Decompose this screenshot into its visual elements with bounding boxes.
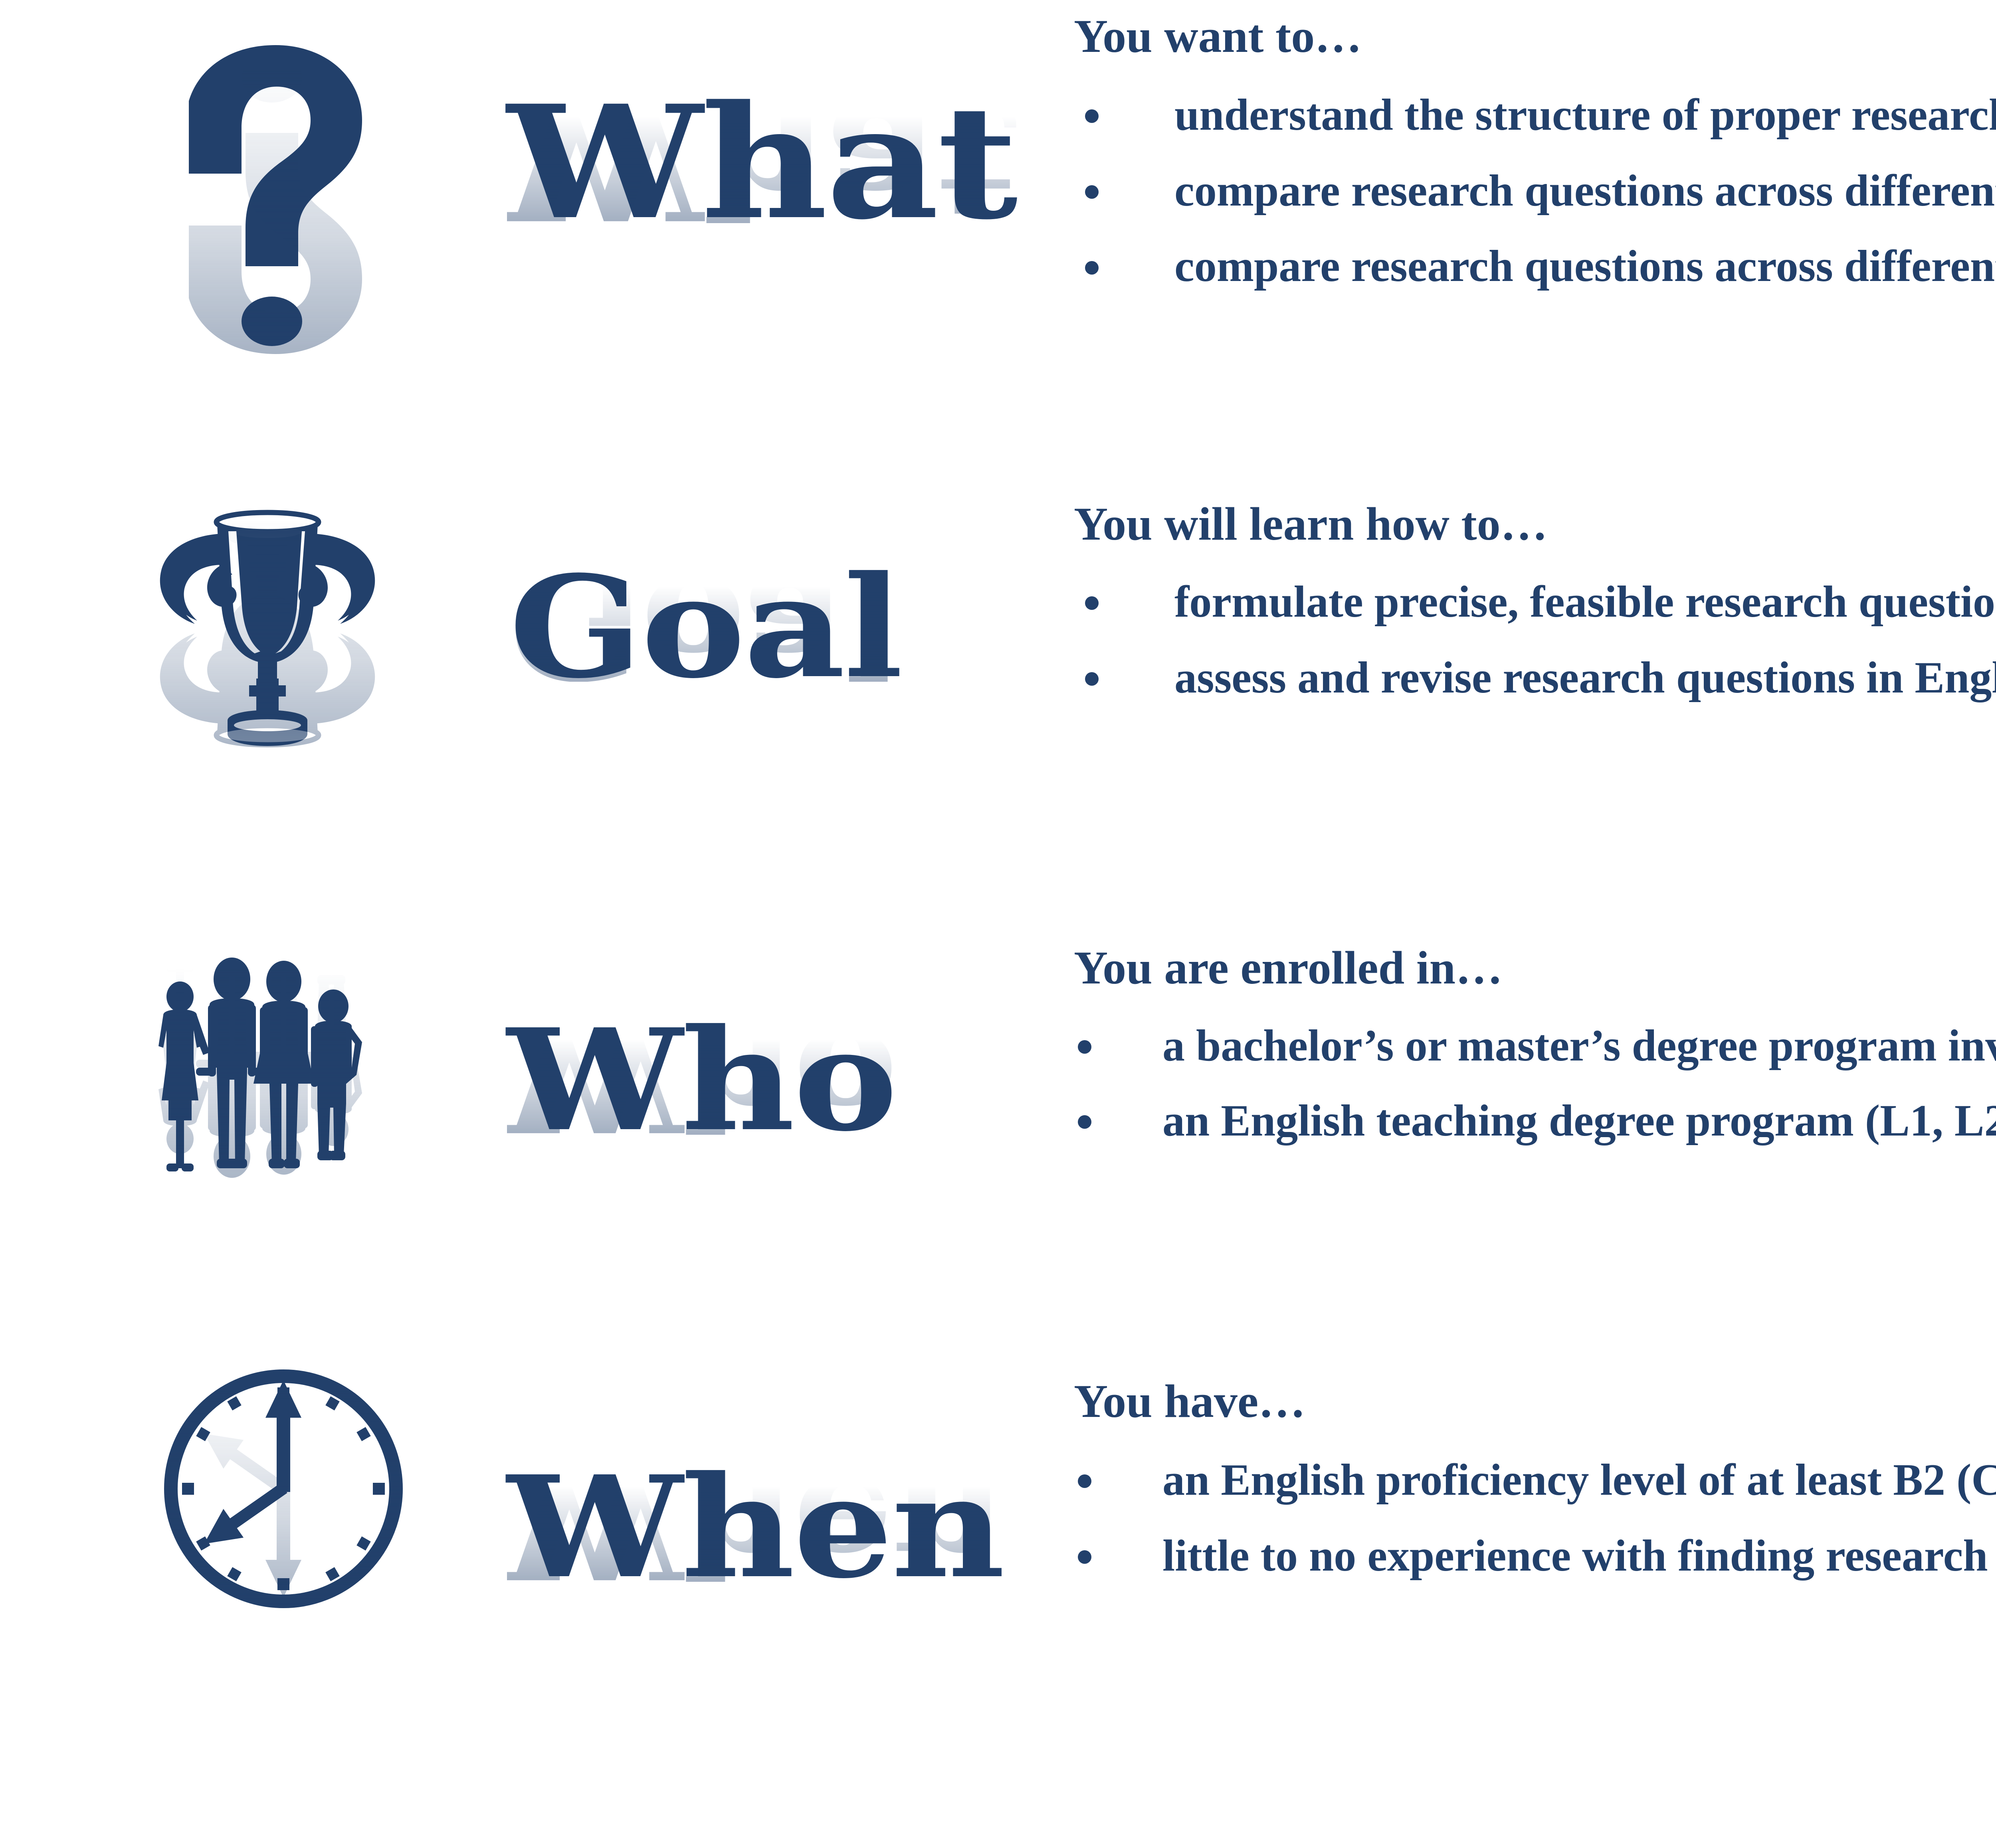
bullet-dot-icon xyxy=(1078,1040,1091,1054)
lead-goal: You will learn how to… xyxy=(1074,499,1996,549)
icon-column-when: When When xyxy=(132,1365,1050,1779)
bullet-list-who: a bachelor’s or master’s degree program … xyxy=(1074,1021,1996,1146)
bullet-text: assess and revise research questions in … xyxy=(1174,653,1996,702)
word-who-reflection: Who xyxy=(507,1026,896,1135)
bullet-dot-icon xyxy=(1078,1115,1091,1129)
text-column-goal: You will learn how to… formulate precise… xyxy=(1074,499,1996,703)
family-group-icon-wrapper xyxy=(150,948,429,1427)
bullet-text: little to no experience with finding res… xyxy=(1162,1531,1996,1581)
section-what: What What You want to… understand the st… xyxy=(0,0,1996,471)
word-what-wrapper: What What xyxy=(507,102,962,344)
bullet-dot-icon xyxy=(1078,1474,1091,1488)
bullet-text: compare research questions across differ… xyxy=(1174,166,1996,216)
bullet-dot-icon xyxy=(1085,596,1099,610)
list-item: understand the structure of proper resea… xyxy=(1074,90,1996,141)
bullet-text: an English teaching degree program (L1, … xyxy=(1162,1096,1996,1146)
bullet-list-goal: formulate precise, feasible research que… xyxy=(1074,577,1996,703)
section-goal: Goal Goal You will learn how to… formula… xyxy=(0,475,1996,922)
family-group-icon-reflection xyxy=(150,948,429,1187)
list-item: an English proficiency level of at least… xyxy=(1074,1455,1996,1506)
lead-what: You want to… xyxy=(1074,11,1996,61)
question-mark-icon-reflection xyxy=(182,42,369,357)
list-item: a bachelor’s or master’s degree program … xyxy=(1074,1021,1996,1072)
bullet-text: understand the structure of proper resea… xyxy=(1174,90,1996,140)
word-goal-reflection: Goal xyxy=(509,573,901,682)
bullet-dot-icon xyxy=(1085,261,1099,275)
list-item: an English teaching degree program (L1, … xyxy=(1074,1096,1996,1147)
lead-who: You are enrolled in… xyxy=(1074,943,1996,993)
icon-column-what: What What xyxy=(132,0,1050,471)
bullet-text: an English proficiency level of at least… xyxy=(1162,1455,1996,1505)
list-item: formulate precise, feasible research que… xyxy=(1074,577,1996,628)
word-when-reflection: When xyxy=(507,1473,1004,1582)
text-column-when: You have… an English proficiency level o… xyxy=(1074,1376,1996,1581)
bullet-text: formulate precise, feasible research que… xyxy=(1174,577,1996,627)
bullet-dot-icon xyxy=(1085,109,1099,123)
bullet-list-what: understand the structure of proper resea… xyxy=(1074,90,1996,292)
clock-icon-reflection xyxy=(164,1369,403,1609)
text-column-who: You are enrolled in… a bachelor’s or mas… xyxy=(1074,943,1996,1146)
section-when: When When You have… an English proficien… xyxy=(0,1365,1996,1779)
bullet-text: a bachelor’s or master’s degree program … xyxy=(1162,1021,1996,1070)
trophy-icon-reflection xyxy=(144,497,391,760)
word-what-reflection: What xyxy=(507,102,1016,223)
clock-icon-wrapper xyxy=(164,1369,403,1848)
word-who-wrapper: Who Who xyxy=(507,1026,854,1244)
bullet-list-when: an English proficiency level of at least… xyxy=(1074,1455,1996,1581)
text-column-what: You want to… understand the structure of… xyxy=(1074,11,1996,292)
list-item: compare research questions across differ… xyxy=(1074,166,1996,217)
bullet-dot-icon xyxy=(1078,1550,1091,1564)
bullet-text: compare research questions across differ… xyxy=(1174,241,1996,291)
icon-column-who: Who Who xyxy=(132,926,1050,1365)
word-goal-wrapper: Goal Goal xyxy=(509,573,859,791)
list-item: compare research questions across differ… xyxy=(1074,241,1996,292)
list-item: assess and revise research questions in … xyxy=(1074,653,1996,704)
lead-when: You have… xyxy=(1074,1376,1996,1426)
bullet-dot-icon xyxy=(1085,185,1099,199)
word-when-wrapper: When When xyxy=(507,1473,950,1691)
list-item: little to no experience with finding res… xyxy=(1074,1531,1996,1582)
bullet-dot-icon xyxy=(1085,672,1099,686)
icon-column-goal: Goal Goal xyxy=(132,475,1050,922)
slide-canvas: What What You want to… understand the st… xyxy=(0,0,1996,1779)
section-who: Who Who You are enrolled in… a bachelor’… xyxy=(0,926,1996,1365)
